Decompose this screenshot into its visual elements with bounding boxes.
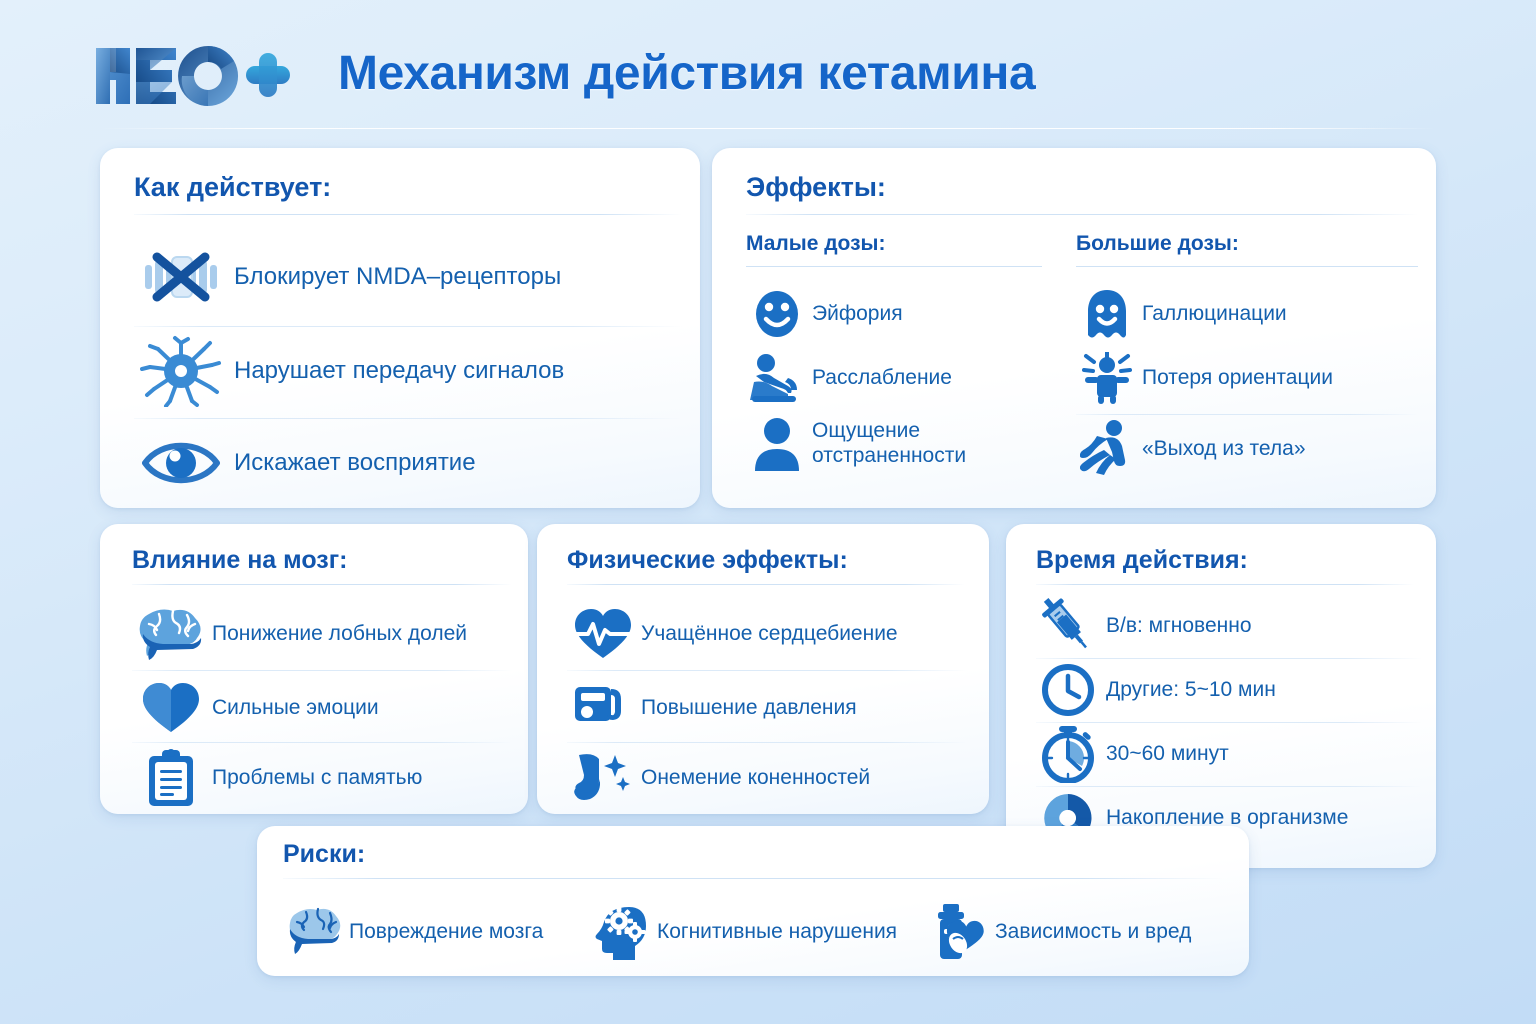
- head-gears-icon: [591, 903, 653, 961]
- pill-bottle-icon: [929, 903, 991, 961]
- list-item-label: Ощущение отстраненности: [812, 419, 966, 469]
- divider: [134, 326, 682, 327]
- card-title-brain-impact: Влияние на мозг:: [132, 546, 347, 575]
- list-item[interactable]: 30~60 минут: [1036, 722, 1422, 786]
- list-item-label: Блокирует NMDA–рецепторы: [234, 263, 561, 291]
- blood-pressure-monitor-icon: [567, 677, 639, 739]
- subtitle-high-dose: Большие дозы:: [1076, 232, 1239, 256]
- heartbeat-icon: [567, 603, 639, 665]
- list-item[interactable]: Искажает восприятие: [134, 420, 682, 506]
- list-item-label: Другие: 5~10 мин: [1106, 678, 1276, 703]
- list-item-label: Повышение давления: [641, 696, 857, 721]
- list-item[interactable]: Учащённое сердцебиение: [567, 598, 967, 670]
- card-title-effects: Эффекты:: [746, 172, 886, 203]
- list-item[interactable]: Ощущение отстраненности: [746, 406, 1046, 482]
- list-item[interactable]: Повышение давления: [567, 672, 967, 744]
- smiley-face-icon: [746, 285, 808, 343]
- brain-icon: [132, 603, 210, 665]
- list-item-label: Эйфория: [812, 302, 903, 327]
- list-item[interactable]: Зависимость и вред: [929, 900, 1191, 964]
- numb-foot-icon: [567, 747, 639, 809]
- clock-icon: [1036, 661, 1100, 719]
- clipboard-icon: [132, 747, 210, 809]
- brain-damage-icon: [283, 903, 345, 961]
- divider: [746, 214, 1418, 215]
- divider: [134, 418, 682, 419]
- list-item[interactable]: Расслабление: [746, 346, 1046, 410]
- list-item-label: Проблемы с памятью: [212, 766, 422, 791]
- list-item-label: Сильные эмоции: [212, 696, 379, 721]
- blocked-receptor-icon: [134, 241, 228, 313]
- infographic-canvas: Механизм действия кетамина Как действует…: [0, 0, 1536, 1024]
- list-item-label: Повреждение мозга: [349, 920, 543, 944]
- divider: [1076, 266, 1418, 267]
- divider: [567, 584, 965, 585]
- person-bust-icon: [746, 415, 808, 473]
- floating-person-icon: [1076, 420, 1138, 478]
- card-effects: Эффекты: Малые дозы: Эйфория: [712, 148, 1436, 508]
- header: Механизм действия кетамина: [0, 0, 1536, 140]
- list-item[interactable]: Потеря ориентации: [1076, 346, 1418, 410]
- heart-icon: [132, 677, 210, 739]
- divider: [567, 670, 967, 671]
- list-item[interactable]: Повреждение мозга: [283, 900, 543, 964]
- divider: [283, 878, 1223, 879]
- list-item-label: Учащённое сердцебиение: [641, 622, 898, 647]
- list-item-label: Нарушает передачу сигналов: [234, 357, 564, 385]
- card-duration: Время действия:: [1006, 524, 1436, 868]
- card-physical-effects: Физические эффекты: Учащённое сердцебиен…: [537, 524, 989, 814]
- list-item-label: Искажает восприятие: [234, 449, 476, 477]
- card-how-it-works: Как действует: Блокирует NMDA: [100, 148, 700, 508]
- stopwatch-icon: [1036, 725, 1100, 783]
- list-item-label: 30~60 минут: [1106, 742, 1229, 767]
- header-divider: [100, 128, 1436, 129]
- list-item[interactable]: «Выход из тела»: [1076, 416, 1418, 482]
- eye-icon: [134, 427, 228, 499]
- divider: [1036, 584, 1414, 585]
- list-item[interactable]: Понижение лобных долей: [132, 598, 512, 670]
- card-title-duration: Время действия:: [1036, 546, 1248, 575]
- list-item[interactable]: Эйфория: [746, 282, 1046, 346]
- card-risks: Риски: Повреждение мозга: [257, 826, 1249, 976]
- divider: [1076, 414, 1418, 415]
- divider: [132, 584, 512, 585]
- list-item-label: Когнитивные нарушения: [657, 920, 897, 944]
- divider: [134, 214, 682, 215]
- list-item[interactable]: Сильные эмоции: [132, 672, 512, 744]
- list-item-label: Потеря ориентации: [1142, 366, 1333, 391]
- list-item-label: Понижение лобных долей: [212, 622, 467, 647]
- dizzy-person-icon: [1076, 349, 1138, 407]
- list-item-label: Онемение коненностей: [641, 766, 870, 791]
- list-item[interactable]: Блокирует NMDA–рецепторы: [134, 234, 682, 320]
- list-item-label: Расслабление: [812, 366, 952, 391]
- card-title-physical-effects: Физические эффекты:: [567, 546, 848, 575]
- divider: [132, 670, 512, 671]
- list-item-label: Галлюцинации: [1142, 302, 1287, 327]
- neo-plus-logo: [92, 40, 292, 112]
- list-item[interactable]: Когнитивные нарушения: [591, 900, 897, 964]
- list-item-label: В/в: мгновенно: [1106, 614, 1252, 639]
- card-title-how-it-works: Как действует:: [134, 172, 331, 203]
- list-item[interactable]: Другие: 5~10 мин: [1036, 658, 1422, 722]
- neuron-icon: [134, 335, 228, 407]
- page-title: Механизм действия кетамина: [338, 46, 1035, 101]
- subtitle-low-dose: Малые дозы:: [746, 232, 885, 256]
- card-brain-impact: Влияние на мозг: Понижение лобных долей: [100, 524, 528, 814]
- list-item-label: «Выход из тела»: [1142, 437, 1306, 462]
- list-item[interactable]: В/в: мгновенно: [1036, 594, 1422, 658]
- divider: [746, 266, 1042, 267]
- list-item[interactable]: Галлюцинации: [1076, 282, 1418, 346]
- list-item-label: Зависимость и вред: [995, 920, 1191, 944]
- list-item[interactable]: Проблемы с памятью: [132, 742, 512, 814]
- list-item[interactable]: Онемение коненностей: [567, 742, 967, 814]
- ghost-icon: [1076, 285, 1138, 343]
- reclining-person-icon: [746, 349, 808, 407]
- list-item[interactable]: Нарушает передачу сигналов: [134, 328, 682, 414]
- syringe-icon: [1036, 597, 1100, 655]
- card-title-risks: Риски:: [283, 840, 365, 869]
